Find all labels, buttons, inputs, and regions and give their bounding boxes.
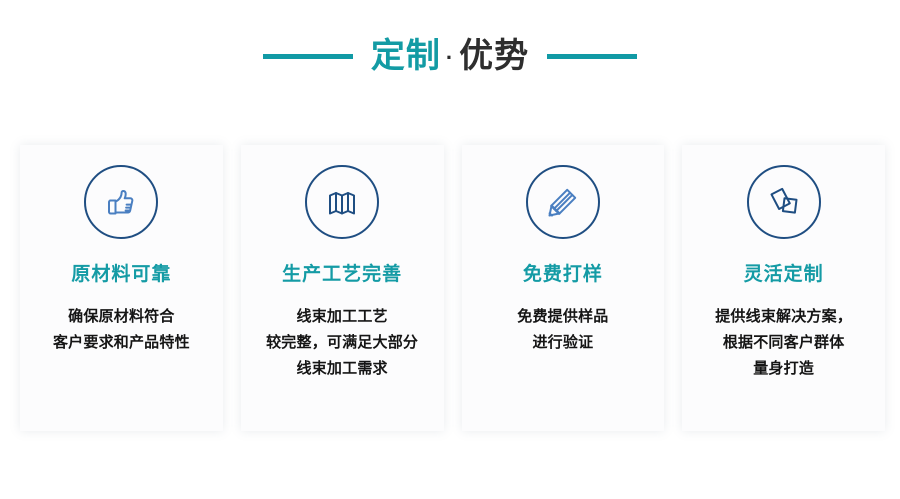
card-description: 提供线束解决方案， 根据不同客户群体 量身打造 xyxy=(694,304,874,383)
card-description-line: 提供线束解决方案， xyxy=(694,304,874,330)
card-description-line: 客户要求和产品特性 xyxy=(31,330,211,356)
icon-circle xyxy=(84,165,158,239)
thumbs-up-icon xyxy=(101,182,141,222)
card-description-line: 量身打造 xyxy=(694,356,874,382)
card-title: 灵活定制 xyxy=(744,265,824,286)
folded-map-icon xyxy=(322,182,362,222)
feature-card[interactable]: 生产工艺完善 线束加工工艺 较完整，可满足大部分 线束加工需求 xyxy=(241,145,444,431)
card-description-line: 进行验证 xyxy=(473,330,653,356)
page-title-separator: · xyxy=(441,47,459,69)
feature-card-row: 原材料可靠 确保原材料符合 客户要求和产品特性 生产工艺完善 线束加工工艺 较完… xyxy=(20,145,885,431)
card-description-line: 确保原材料符合 xyxy=(31,304,211,330)
card-title: 原材料可靠 xyxy=(71,265,171,286)
icon-circle xyxy=(526,165,600,239)
pencil-icon xyxy=(543,182,583,222)
heading-rule-left xyxy=(263,54,353,59)
card-description-line: 线束加工工艺 xyxy=(252,304,432,330)
card-title: 免费打样 xyxy=(523,265,603,286)
card-description-line: 线束加工需求 xyxy=(252,356,432,382)
page-title-main: 优势 xyxy=(459,39,529,73)
feature-card[interactable]: 免费打样 免费提供样品 进行验证 xyxy=(462,145,665,431)
stacked-sheets-icon xyxy=(764,182,804,222)
feature-card[interactable]: 原材料可靠 确保原材料符合 客户要求和产品特性 xyxy=(20,145,223,431)
card-description-line: 免费提供样品 xyxy=(473,304,653,330)
heading-rule-right xyxy=(547,54,637,59)
card-title: 生产工艺完善 xyxy=(282,265,402,286)
card-description: 线束加工工艺 较完整，可满足大部分 线束加工需求 xyxy=(252,304,432,383)
card-description-line: 根据不同客户群体 xyxy=(694,330,874,356)
card-description: 确保原材料符合 客户要求和产品特性 xyxy=(31,304,211,357)
section-heading: 定制 · 优势 xyxy=(0,30,900,82)
card-description-line: 较完整，可满足大部分 xyxy=(252,330,432,356)
feature-card[interactable]: 灵活定制 提供线束解决方案， 根据不同客户群体 量身打造 xyxy=(682,145,885,431)
icon-circle xyxy=(305,165,379,239)
page-title-accent: 定制 xyxy=(371,39,441,73)
page-title: 定制 · 优势 xyxy=(371,39,529,73)
card-description: 免费提供样品 进行验证 xyxy=(473,304,653,357)
icon-circle xyxy=(747,165,821,239)
